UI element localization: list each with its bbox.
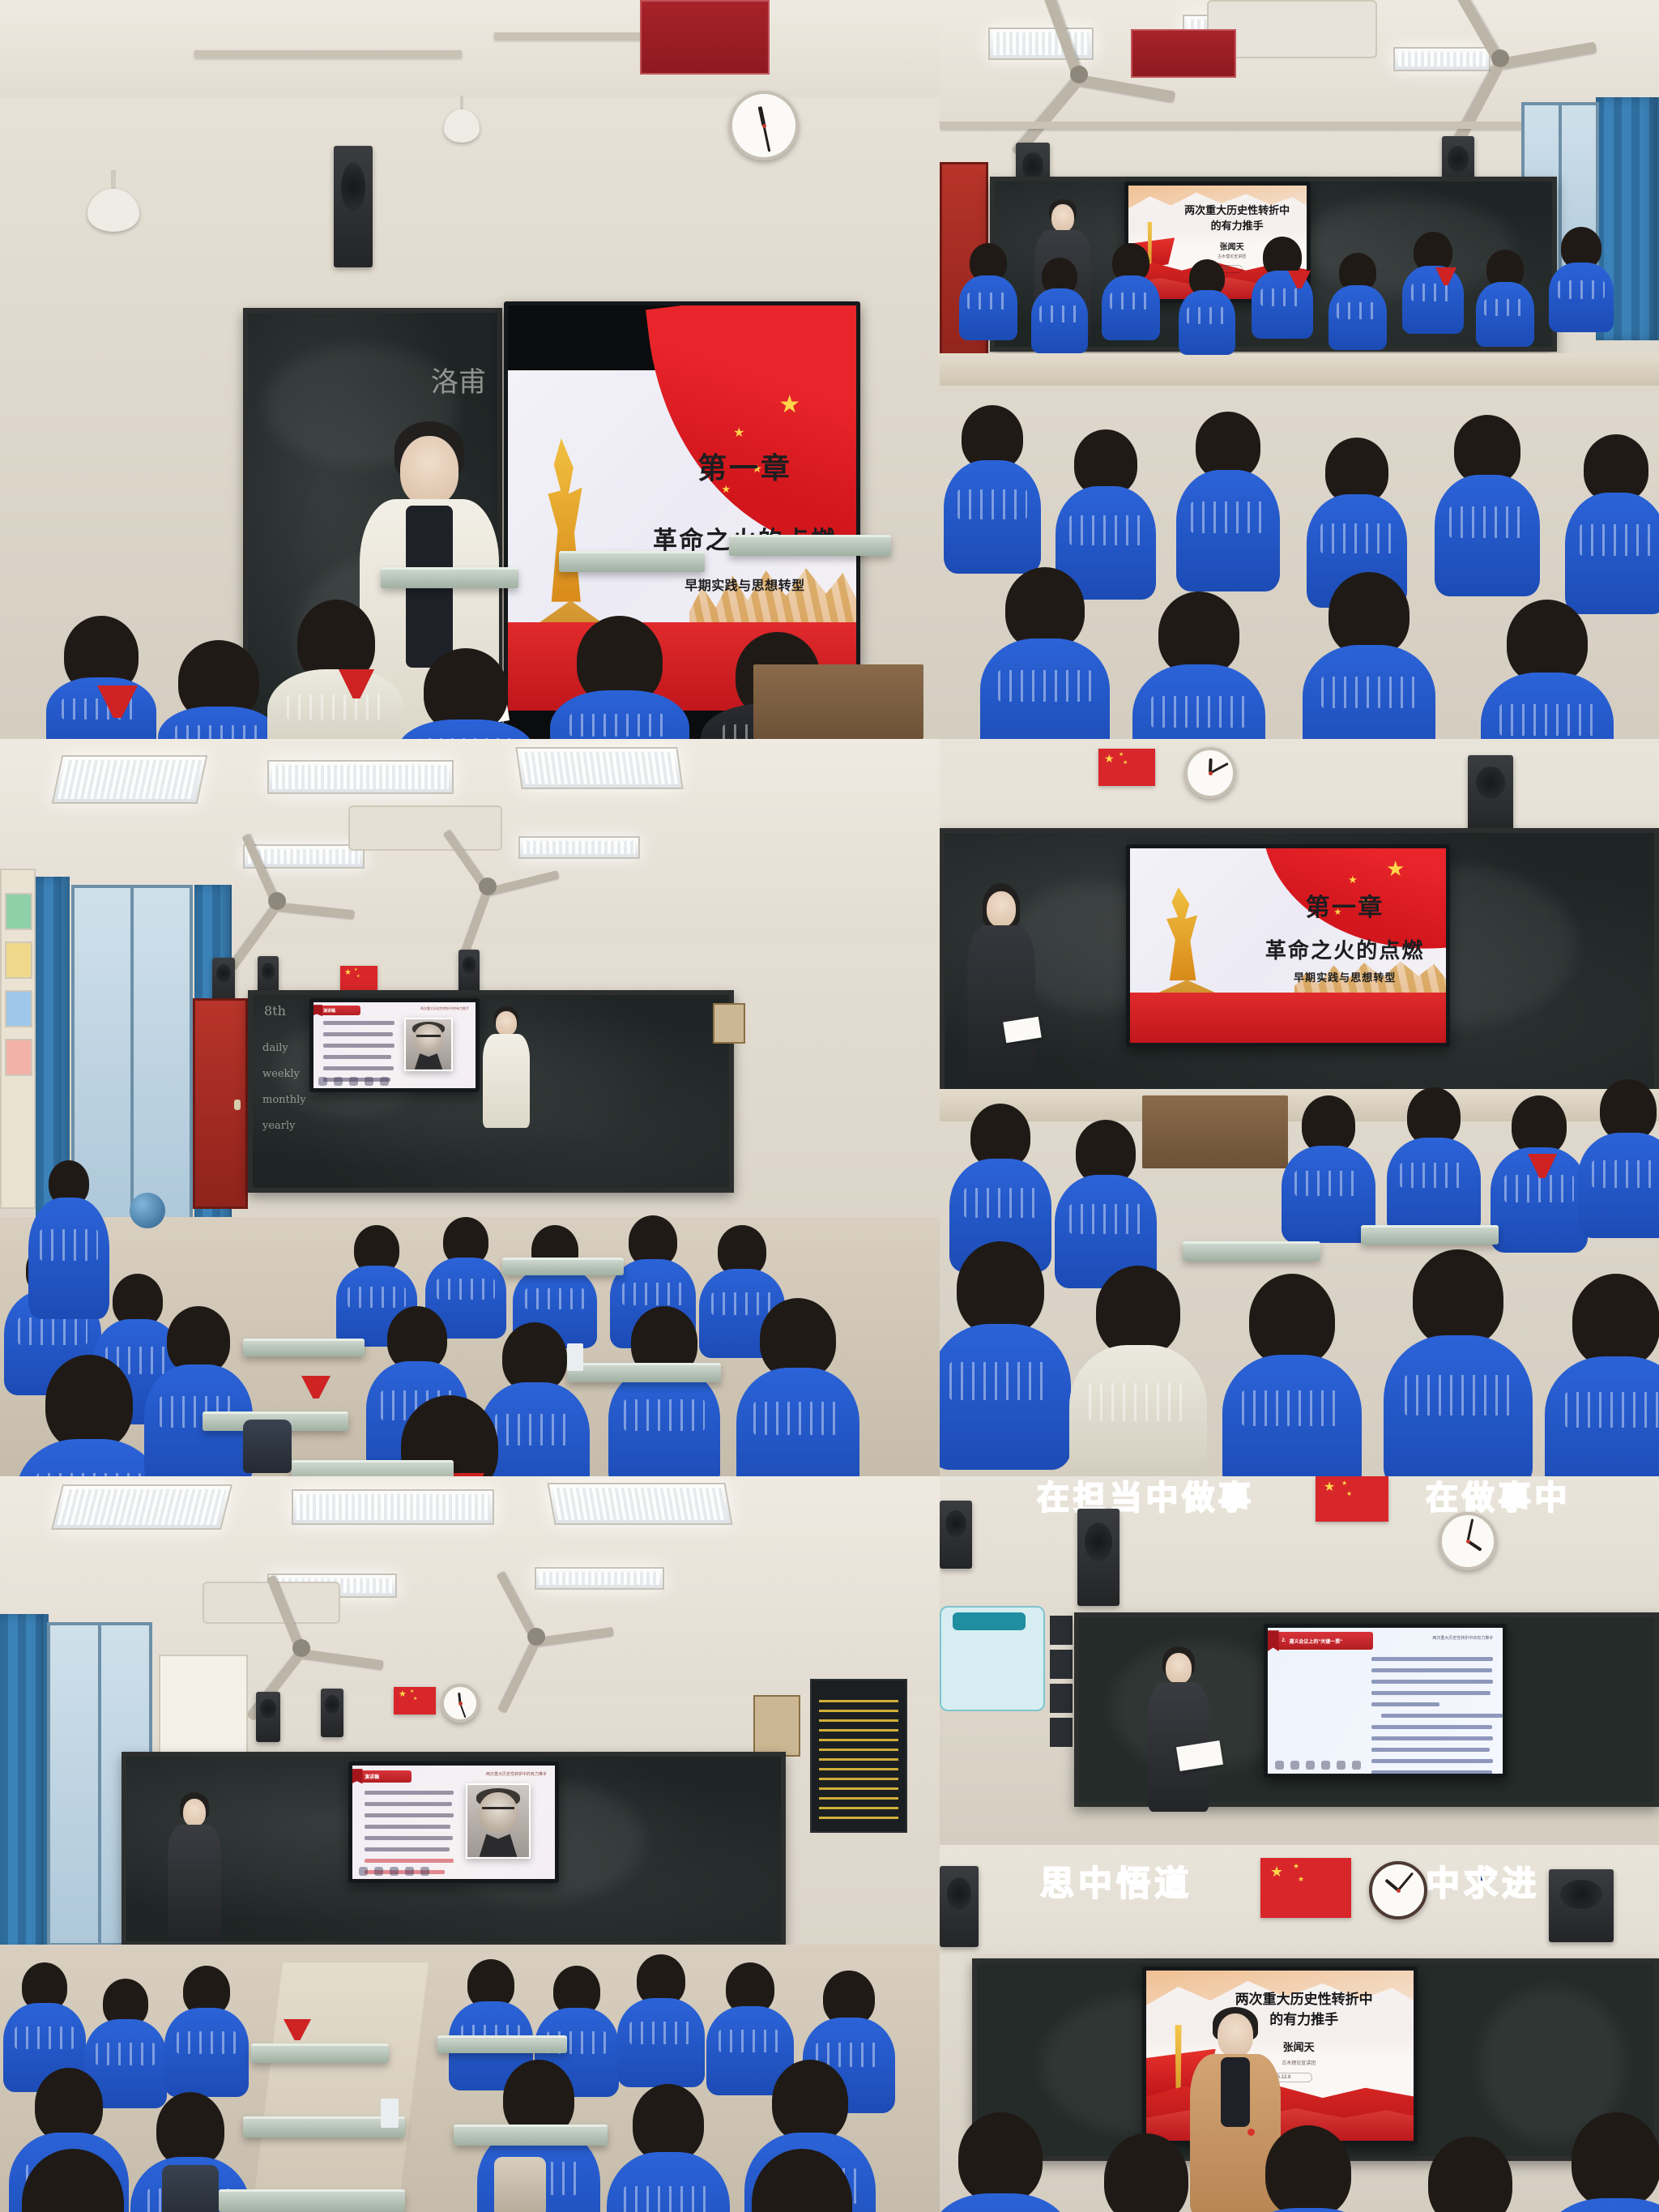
slide-zunyi-text: 2. 遵义会议上的"关键一票" 两次重大历史性转折中的有力推手 [1268,1628,1503,1774]
student [964,243,1013,332]
ceiling-fan-icon [300,1646,303,1650]
classroom-door[interactable] [193,998,248,1209]
ceiling-light [51,1484,232,1530]
panel-right-bottom: 思中悟道 中求进 ★ ★ ★ 两次重大历史性转折中 的有 [940,1845,1659,2212]
speaker-icon [940,1866,979,1947]
backpack [494,2157,546,2212]
speaker-icon [256,1692,280,1742]
panel-right-second: ★ ★ ★ ★ ★ ★ ★ 第一章 [940,739,1659,1476]
panel-left-bottom: ★ ★ ★ ||| 演讲稿 两次重大历史性转折中的有力推手 [0,1476,940,2212]
bulletin-label [953,1612,1026,1630]
student [956,1104,1045,1258]
student [1107,243,1155,332]
window-curtain [0,1614,49,1962]
student [729,2149,875,2212]
student [559,616,680,739]
slide-chapter-one: ★ ★ ★ ★ 第一章 革命之火的点燃 早期实践与思想转型 [1130,848,1446,1043]
ribbon-text: 遵义会议上的"关键一票" [1289,1638,1342,1645]
slide-toolbar[interactable] [318,1077,389,1086]
student [162,640,275,739]
wall-banner-left: 在担当中做事 [1037,1476,1255,1518]
student-desk [454,2124,608,2146]
student [275,600,397,739]
security-camera-icon [444,96,480,143]
student [49,616,154,739]
student-desk [559,551,705,572]
speaker-icon [1549,1869,1614,1942]
wall-notice-card [5,990,32,1027]
student [1555,2112,1659,2212]
slide-toolbar[interactable] [359,1867,429,1876]
wall-notice-card [5,893,32,930]
panel-left-middle: ★ ★ ★ 8th daily weekly monthly yearly 演讲… [0,739,940,1476]
student [1555,1274,1659,1476]
red-wall-panel [1131,29,1236,78]
teacher [478,1006,535,1160]
student-desk [502,1258,624,1275]
ceiling-fan-icon [1077,73,1081,76]
slide-body-text [1371,1657,1494,1778]
panel-right-third: 在担当中做事 在做事中 ★ ★ ★ 2. 遵义会议上的"关键一票" [940,1476,1659,1845]
speaker-icon [940,1501,972,1569]
speaker-icon [458,950,480,995]
student-desk [381,567,518,588]
chalk-note: 8th [264,1003,286,1018]
backpack [162,2165,219,2212]
student [988,567,1102,739]
student [1333,253,1382,342]
wall-notice-card [5,1039,32,1076]
student [1393,1249,1523,1476]
portrait-photo [466,1783,531,1858]
wall-picture-frame [713,1003,745,1044]
student [1183,412,1273,582]
slide-ribbon-label: 演讲稿 [318,1006,360,1015]
slide-portrait-document: 演讲稿 两次重大历史性转折中的有力推手 [313,1002,476,1088]
vertical-label-strip [1050,1718,1073,1747]
student [1142,591,1256,739]
classroom-platform [940,353,1659,386]
podium [1142,1095,1288,1168]
student [1085,2133,1207,2212]
ceiling-light [267,760,454,794]
student [1442,415,1533,585]
chalk-note: weekly [262,1068,300,1080]
student [1555,227,1607,324]
vertical-label-strip [1050,1684,1073,1713]
student [24,1355,154,1476]
flag-icon: ★ ★ ★ [1316,1476,1388,1522]
clock-icon [1184,747,1236,799]
panel-top-right: 两次重大历史性转折中 的有力推手 张闻天 古木理论宣讲团 2025.12.8 [940,0,1659,739]
wall-banner-right: 中求进 [1426,1856,1540,1906]
speech-paper [1003,1017,1042,1044]
ceiling-light [52,755,208,804]
student-desk [729,535,891,556]
red-wall-panel [640,0,770,75]
ceiling-light [547,1483,732,1525]
student [170,1966,243,2087]
slide-portrait-document: 演讲稿 两次重大历史性转折中的有力推手 [352,1766,555,1879]
clock-icon [729,91,799,160]
ac-unit [348,805,502,851]
ceiling-fan-icon [535,1635,538,1638]
wall-picture-frame [753,1695,800,1757]
student-desk [1361,1225,1499,1245]
flag-icon: ★ ★ ★ [1260,1858,1351,1918]
vertical-label-strip [1050,1616,1073,1645]
student [1410,2137,1531,2212]
teacher [162,1792,227,1954]
security-camera-icon [87,170,139,232]
portrait-photo [404,1018,453,1071]
speaker-icon [1468,755,1513,836]
slide-title-line1: 两次重大历史性转折中 [1175,202,1299,217]
student [1572,434,1659,604]
teacher [1142,1646,1215,1833]
student [32,1160,105,1306]
student [1183,259,1231,348]
photo-collage: 洛甫 ★ ★ ★ ★ 第一章 革命之火的点燃 早期实践与思想转型 [0,0,1659,2212]
panel-top-left: 洛甫 ★ ★ ★ ★ 第一章 革命之火的点燃 早期实践与思想转型 [0,0,940,739]
student [1035,258,1084,347]
student [616,1306,713,1460]
clock-icon [441,1684,480,1723]
student [948,405,1037,567]
student [0,2149,146,2212]
ceiling [0,0,940,97]
projection-screen: ★ ★ ★ ★ 第一章 革命之火的点燃 早期实践与思想转型 [1126,844,1450,1047]
student [1231,1274,1353,1476]
slide-ribbon-label: 演讲稿 [359,1770,412,1783]
slide-ribbon-label: 2. 遵义会议上的"关键一票" [1275,1632,1374,1650]
slide-chapter-label: 第一章 [647,445,842,487]
student [1588,1079,1659,1225]
slide-chapter-label: 第一章 [1256,887,1433,923]
ceiling-light [518,836,640,859]
student [1288,1095,1369,1233]
water-bottle [381,2099,399,2128]
student [1061,1120,1150,1274]
wall-banner-left: 思中悟道 [1040,1856,1192,1906]
ceiling-fan-icon [275,899,279,903]
student [940,2112,1061,2212]
chalk-note: monthly [262,1094,306,1106]
chalk-writing: 洛甫 [431,360,486,399]
flag-icon: ★ ★ ★ [340,966,377,992]
slide-header: 两次重大历史性转折中的有力推手 [1432,1635,1493,1641]
slide-header: 两次重大历史性转折中的有力推手 [420,1006,469,1011]
student-desk [243,1339,365,1356]
student [1077,1266,1199,1476]
teacher [962,883,1040,1110]
student [518,1225,591,1339]
ceiling-light [292,1489,494,1525]
speaker-icon [1077,1509,1120,1606]
slide-toolbar[interactable] [1275,1761,1361,1770]
student [624,1954,698,2076]
student-desk [567,1363,721,1382]
vertical-label-strip [1050,1650,1073,1679]
student [1312,572,1426,739]
student [616,2084,721,2212]
clock-icon [1439,1512,1497,1570]
student-desk [251,2043,389,2063]
wall-banner-right: 在做事中 [1426,1476,1571,1518]
slide-title: 革命之火的点燃 [1256,934,1433,964]
chalk-note: yearly [262,1120,296,1132]
student-desk [437,2035,567,2053]
ceiling-light [988,28,1094,60]
slide-title-line1: 两次重大历史性转折中 [1205,1988,1403,2008]
student [150,1306,247,1468]
student [1481,250,1529,339]
speaker-icon [334,146,373,267]
clock-icon [1369,1861,1427,1919]
wood-cabinet [753,664,923,739]
water-bottle [567,1343,583,1371]
slide-title-line2: 的有力推手 [1175,217,1299,233]
student [8,1962,81,2084]
center-aisle [252,1962,429,2212]
projection-screen: 演讲稿 两次重大历史性转折中的有力推手 [348,1761,559,1883]
student [940,1241,1061,1452]
speaker-icon [321,1689,343,1737]
ceiling-rail [194,50,462,58]
ceiling-fan-icon [1499,57,1502,60]
ceiling-fan-icon [486,885,489,888]
student [405,648,527,739]
ceiling-light [535,1567,664,1590]
schedule-board [810,1679,907,1833]
projection-screen: 演讲稿 两次重大历史性转折中的有力推手 [309,998,480,1092]
slide-subtitle: 早期实践与思想转型 [647,574,842,594]
wall-notice-card [5,942,32,979]
backpack [243,1420,292,1473]
flag-icon: ★ ★ ★ [1098,749,1155,786]
projection-screen: 2. 遵义会议上的"关键一票" 两次重大历史性转折中的有力推手 [1264,1624,1507,1778]
student [1247,2125,1369,2212]
flag-icon: ★ ★ ★ [394,1687,436,1715]
ceiling-light [515,747,683,789]
student-desk [219,2189,405,2212]
student [1393,1087,1474,1225]
student-desk [1183,1241,1320,1261]
chalk-note: daily [262,1042,288,1054]
student [1491,600,1604,739]
student [745,1298,851,1468]
ribbon-number: 2. [1282,1638,1286,1643]
student-desk [292,1460,454,1476]
globe-icon [130,1193,165,1228]
ceiling-light [1393,47,1491,71]
slide-header: 两次重大历史性转折中的有力推手 [486,1771,547,1777]
slide-subtitle: 早期实践与思想转型 [1256,969,1433,984]
